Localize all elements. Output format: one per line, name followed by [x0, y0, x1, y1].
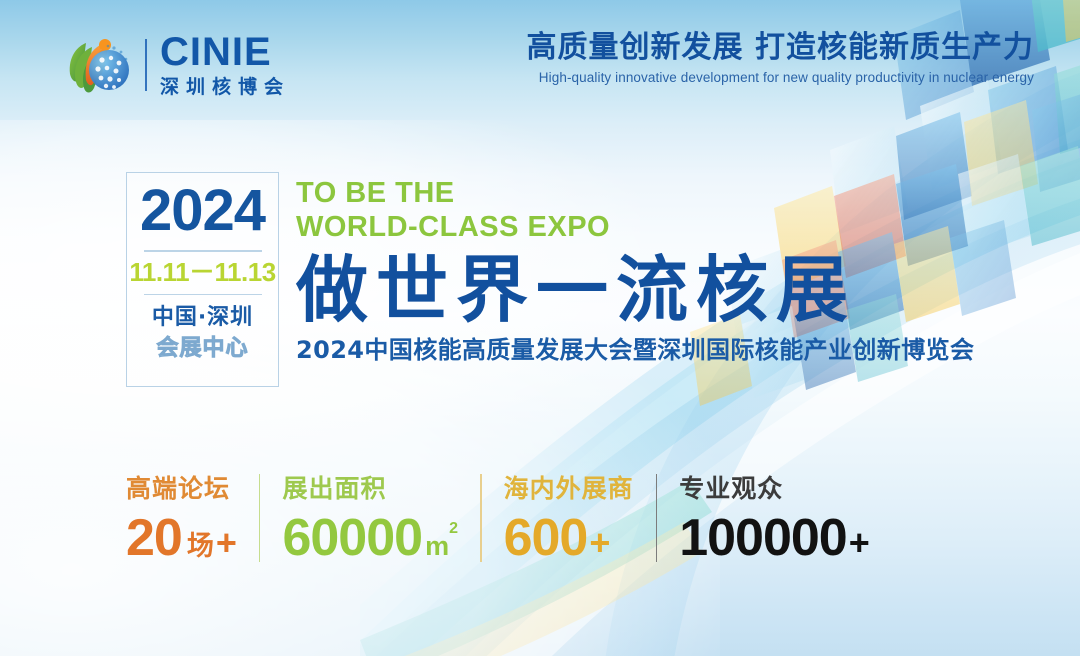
stat-value: 100000 +	[679, 512, 870, 564]
badge-rule-bottom	[144, 294, 262, 296]
stat-item-forums: 高端论坛 20 场 +	[126, 476, 259, 564]
logo-divider	[145, 39, 147, 91]
stat-label: 海内外展商	[504, 476, 634, 501]
header-tagline: 高质量创新发展 打造核能新质生产力 High-quality innovativ…	[527, 30, 1034, 85]
stat-plus: +	[216, 525, 237, 561]
stat-label: 展出面积	[282, 476, 458, 501]
headline-en-line2: WORLD-CLASS EXPO	[296, 210, 974, 244]
headline-subtitle: 2024中国核能高质量发展大会暨深圳国际核能产业创新博览会	[296, 336, 974, 365]
logo-brand-cn: 深圳核博会	[160, 78, 290, 97]
stat-unit: 场	[187, 533, 214, 560]
logo-wordmark: CINIE 深圳核博会	[160, 32, 290, 97]
badge-year: 2024	[140, 182, 265, 240]
stat-item-area: 展出面积 60000 m2	[260, 476, 480, 564]
stat-number: 60000	[282, 512, 422, 564]
stat-value: 20 场 +	[126, 512, 237, 564]
stat-item-exhibitors: 海内外展商 600 +	[482, 476, 656, 564]
stat-number: 20	[126, 512, 182, 564]
cinie-emblem-icon	[64, 34, 132, 96]
stat-label: 专业观众	[679, 476, 870, 501]
stat-plus: +	[589, 525, 610, 561]
badge-city: 中国·深圳	[152, 304, 253, 332]
headline-block: TO BE THE WORLD-CLASS EXPO 做世界一流核展 2024中…	[296, 176, 974, 365]
stat-item-visitors: 专业观众 100000 +	[657, 476, 892, 564]
stat-label: 高端论坛	[126, 476, 237, 501]
tagline-cn: 高质量创新发展 打造核能新质生产力	[527, 30, 1034, 65]
stat-number: 100000	[679, 512, 847, 564]
headline-en-line1: TO BE THE	[296, 176, 974, 210]
expo-banner: CINIE 深圳核博会 高质量创新发展 打造核能新质生产力 High-quali…	[0, 0, 1080, 656]
badge-rule-top	[144, 250, 262, 252]
badge-dates: 11.11－11.13	[129, 259, 275, 285]
banner-header: CINIE 深圳核博会 高质量创新发展 打造核能新质生产力 High-quali…	[0, 0, 1080, 120]
stat-unit: m2	[425, 533, 458, 560]
headline-cn: 做世界一流核展	[296, 252, 974, 328]
cinie-logo[interactable]: CINIE 深圳核博会	[64, 32, 290, 97]
stat-value: 60000 m2	[282, 512, 458, 564]
logo-brand: CINIE	[160, 32, 290, 72]
tagline-en: High-quality innovative development for …	[527, 70, 1034, 85]
stat-value: 600 +	[504, 512, 634, 564]
stats-row: 高端论坛 20 场 + 展出面积 60000 m2 海内外展商 600 +	[126, 474, 892, 564]
date-badge: 2024 11.11－11.13 中国·深圳 会展中心	[126, 172, 279, 387]
stat-superscript: 2	[449, 520, 458, 537]
stat-plus: +	[849, 525, 870, 561]
stat-number: 600	[504, 512, 588, 564]
badge-venue: 会展中心	[156, 335, 248, 363]
